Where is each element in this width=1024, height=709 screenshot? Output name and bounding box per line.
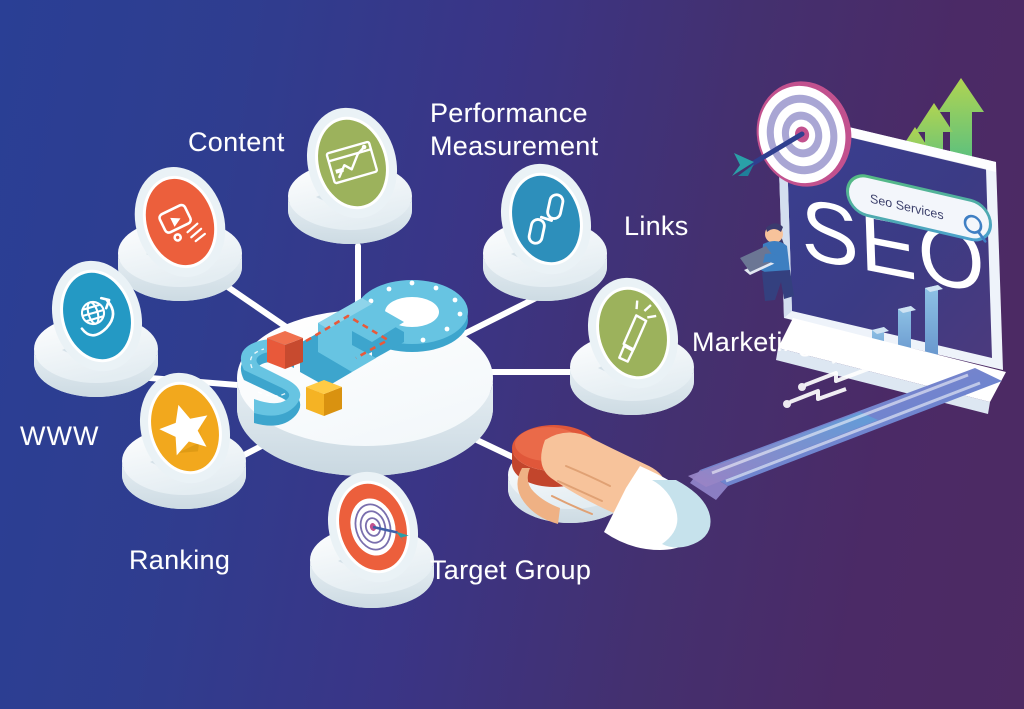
label-ranking: Ranking — [129, 545, 230, 576]
pod-content[interactable] — [118, 155, 242, 301]
label-performance-measurement-line2: Measurement — [430, 131, 598, 162]
pod-target-group[interactable] — [310, 461, 434, 608]
seo-hub[interactable] — [237, 280, 493, 476]
accent-cube-yellow — [306, 380, 342, 416]
label-target-group: Target Group — [430, 555, 591, 586]
label-marketing: Marketing — [692, 327, 813, 358]
pod-links[interactable] — [483, 153, 607, 301]
seo-infographic-canvas: SEO Seo Services — [0, 0, 1024, 709]
press-button-with-hand[interactable] — [508, 425, 711, 550]
label-www: WWW — [20, 421, 99, 452]
label-content: Content — [188, 127, 285, 158]
accent-cube-red — [267, 331, 303, 369]
label-links: Links — [624, 211, 689, 242]
label-performance-measurement-line1: Performance — [430, 98, 588, 129]
pod-performance-measurement[interactable] — [288, 97, 412, 244]
